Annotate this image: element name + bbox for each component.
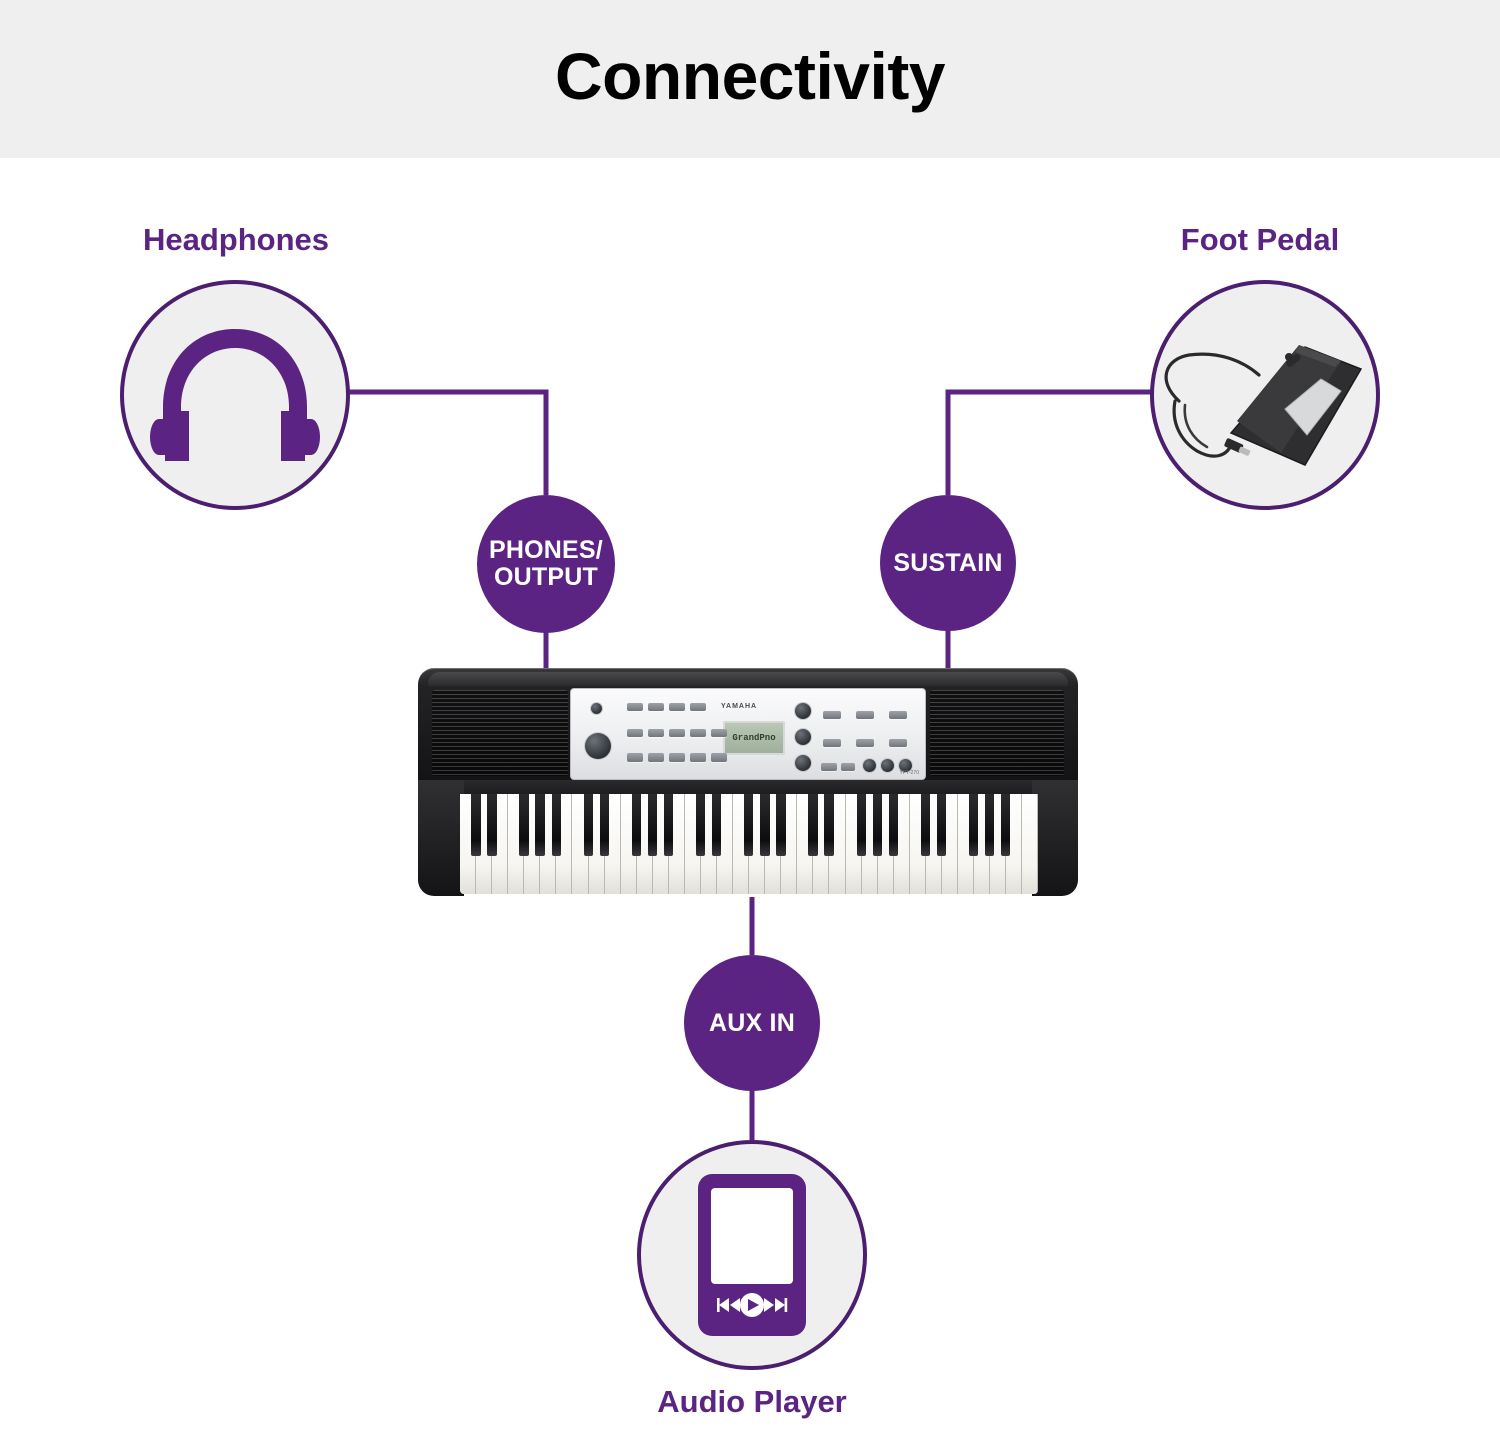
panel-button[interactable] [648,729,664,737]
headphones-circle[interactable] [120,280,350,510]
keyboard-body: YAMAHA GrandPno [418,668,1078,790]
control-panel[interactable]: YAMAHA GrandPno [570,688,926,780]
panel-button[interactable] [856,711,874,719]
port-badge-sustain[interactable]: SUSTAIN [880,495,1016,631]
brand-logo: YAMAHA [721,703,757,710]
audio-player-circle[interactable] [637,1140,867,1370]
panel-button[interactable] [690,729,706,737]
keybed[interactable] [460,794,1038,894]
black-key[interactable] [1001,794,1010,856]
foot-pedal-circle[interactable] [1150,280,1380,510]
black-key[interactable] [824,794,833,856]
black-key[interactable] [471,794,480,856]
black-key[interactable] [696,794,705,856]
black-key[interactable] [873,794,882,856]
black-key[interactable] [535,794,544,856]
audio-player-label: Audio Player [612,1384,892,1420]
black-key[interactable] [664,794,673,856]
panel-button[interactable] [669,753,685,762]
keyboard-right-cheek [1032,780,1078,896]
panel-knob[interactable] [881,759,894,772]
panel-button[interactable] [711,729,727,737]
panel-button[interactable] [627,703,643,711]
panel-button[interactable] [648,753,664,762]
black-keys[interactable] [460,794,1038,856]
panel-button[interactable] [841,763,855,771]
black-key[interactable] [584,794,593,856]
panel-button[interactable] [711,753,727,762]
black-key[interactable] [937,794,946,856]
black-key[interactable] [760,794,769,856]
sustain-pedal-photo [1135,305,1395,485]
panel-button[interactable] [648,703,664,711]
headphones-label: Headphones [96,222,376,258]
black-key[interactable] [985,794,994,856]
foot-pedal-label: Foot Pedal [1120,222,1400,258]
panel-button[interactable] [627,729,643,737]
black-key[interactable] [552,794,561,856]
black-key[interactable] [857,794,866,856]
black-key[interactable] [808,794,817,856]
panel-button[interactable] [889,739,907,747]
portable-keyboard[interactable]: YAMAHA GrandPno [418,668,1078,898]
black-key[interactable] [921,794,930,856]
connectivity-diagram: Connectivity Headphones Foot Pedal [0,0,1500,1430]
panel-button[interactable] [823,711,841,719]
aux-in-line-1: AUX IN [709,1010,795,1037]
master-volume-knob[interactable] [585,733,611,759]
lcd-display: GrandPno [723,721,785,755]
headphones-icon [145,315,325,475]
play-icon [740,1293,764,1317]
black-key[interactable] [776,794,785,856]
phones-output-line-1: PHONES/ [489,537,603,564]
style-select-knob[interactable] [795,729,811,745]
speaker-grille-left [432,690,568,776]
black-key[interactable] [648,794,657,856]
song-select-knob[interactable] [795,755,811,771]
model-label: YPT-270 [900,770,919,776]
panel-button[interactable] [823,739,841,747]
panel-button[interactable] [856,739,874,747]
black-key[interactable] [744,794,753,856]
keyboard-left-cheek [418,780,464,896]
power-button[interactable] [591,703,602,714]
black-key[interactable] [969,794,978,856]
lcd-text: GrandPno [732,733,775,743]
black-key[interactable] [632,794,641,856]
panel-button[interactable] [690,753,706,762]
panel-button[interactable] [690,703,706,711]
black-key[interactable] [889,794,898,856]
phones-output-line-2: OUTPUT [489,564,603,591]
port-badge-aux-in[interactable]: AUX IN [684,955,820,1091]
sustain-line-1: SUSTAIN [893,550,1002,577]
mp3-player-icon [692,1170,812,1340]
black-key[interactable] [600,794,609,856]
voice-select-knob[interactable] [795,703,811,719]
panel-button[interactable] [669,703,685,711]
black-key[interactable] [487,794,496,856]
connector-headphones [347,392,546,495]
panel-button[interactable] [889,711,907,719]
black-key[interactable] [519,794,528,856]
black-key[interactable] [712,794,721,856]
panel-button[interactable] [669,729,685,737]
port-badge-phones-output[interactable]: PHONES/ OUTPUT [477,495,615,633]
panel-button[interactable] [627,753,643,762]
connector-footpedal [948,392,1152,495]
panel-knob[interactable] [863,759,876,772]
panel-button[interactable] [821,763,837,771]
speaker-grille-right [930,690,1064,776]
keyboard-top-lid [428,672,1068,686]
page-title: Connectivity [0,38,1500,114]
